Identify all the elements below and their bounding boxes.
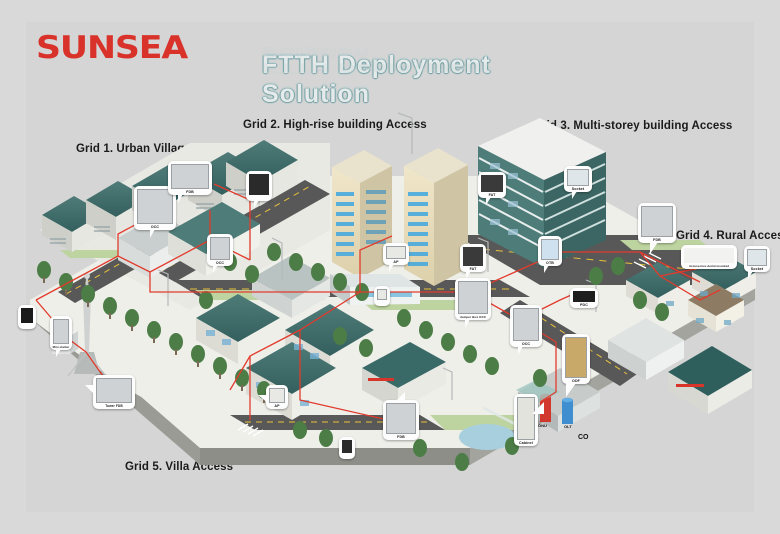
tower-fdb-icon — [96, 378, 132, 403]
callout-label: Mini shelter — [50, 345, 72, 349]
callout-cabinet[interactable]: Cabinet — [514, 394, 538, 446]
callout-label: AP — [266, 404, 288, 408]
socket-icon — [567, 169, 589, 186]
callout-label: Jumper Box OCC — [455, 315, 491, 319]
callout-occ-3[interactable]: OCC — [510, 305, 542, 347]
drop-cable-icon — [21, 308, 33, 323]
callout-socket-1[interactable]: Socket — [564, 166, 592, 192]
callout-odf[interactable]: ODF — [562, 334, 590, 384]
callout-tail — [518, 346, 523, 355]
callout-label: OCC — [134, 225, 176, 229]
odf-rack-icon — [565, 337, 587, 378]
callout-label: FAT — [478, 193, 506, 197]
mini-shelter-icon — [53, 319, 69, 344]
callout-fdb-rural[interactable]: FDB — [638, 203, 676, 243]
grid-label-urban-village: Grid 1. Urban Village Access — [76, 143, 235, 155]
callout-tower-fdb[interactable]: Tower FDB — [93, 375, 135, 409]
callout-label: FDB — [383, 435, 419, 439]
occ-cabinet-icon — [137, 189, 173, 224]
callout-label: OTB — [538, 261, 562, 265]
callout-onu-village[interactable] — [246, 171, 272, 201]
sunsea-logo: SUNSEA — [36, 30, 187, 66]
callout-tail — [572, 191, 577, 199]
callout-socket-2[interactable]: Socket — [744, 246, 770, 272]
pdc-chip-icon — [573, 291, 595, 302]
badge-olt: OLT — [564, 424, 572, 429]
callout-tail — [650, 242, 658, 254]
callout-tail — [748, 271, 753, 279]
callout-tail — [178, 194, 183, 203]
callout-fat-2[interactable]: FAT — [478, 172, 506, 198]
onu-device-icon — [377, 289, 387, 300]
callout-label: Tower FDB — [93, 404, 135, 408]
callout-jumper-box-occ[interactable]: Jumper Box OCC — [455, 278, 491, 320]
fat-closure-icon — [481, 175, 503, 192]
callout-fdb-village[interactable]: FDB — [168, 161, 212, 195]
callout-label: Socket — [564, 187, 592, 191]
callout-tail — [85, 385, 95, 395]
fat-closure-icon — [463, 247, 483, 266]
callout-otb[interactable]: OTB — [538, 236, 562, 266]
callout-tail — [389, 264, 394, 272]
otb-terminal-icon — [541, 239, 559, 260]
grid-label-multi-storey: Grid 3. Multi-storey building Access — [533, 120, 732, 132]
jumper-box-icon — [458, 281, 488, 314]
callout-tail — [56, 349, 61, 357]
callout-tail — [532, 402, 544, 414]
callout-mini-shelter[interactable]: Mini shelter — [50, 316, 72, 350]
badge-co: CO — [578, 434, 589, 441]
callout-onu-highrise[interactable] — [374, 286, 390, 306]
aerial-accessories-icon — [684, 248, 734, 263]
callout-tail — [258, 395, 268, 403]
grid-label-high-rise: Grid 2. High-rise building Access — [243, 119, 427, 131]
page-title: FTTH Deployment Solution FTTH Deployment… — [262, 51, 592, 91]
onu-device-icon — [342, 440, 352, 453]
callout-tail — [213, 265, 218, 273]
callout-bus-stop[interactable] — [18, 305, 36, 329]
callout-label: FAT — [460, 267, 486, 271]
ftth-deployment-poster: SUNSEA FTTH Deployment Solution FTTH Dep… — [0, 0, 780, 534]
callout-tail — [566, 383, 576, 397]
callout-pdc[interactable]: PDC — [570, 288, 598, 308]
fdb-box-icon — [386, 403, 416, 434]
page-title-reflection: FTTH Deployment Solution — [262, 44, 592, 76]
callout-tail — [465, 319, 470, 328]
callout-label: Accessories Aerial mounted — [681, 264, 737, 268]
callout-ap-villa[interactable]: AP — [266, 385, 288, 409]
ap-device-icon — [386, 246, 406, 259]
callout-label: PDC — [570, 303, 598, 307]
callout-tail — [150, 229, 155, 238]
fdb-box-icon — [171, 164, 209, 189]
onu-device-icon — [249, 174, 269, 195]
callout-tail — [254, 200, 259, 208]
grid-label-villa: Grid 5. Villa Access — [125, 461, 233, 473]
callout-label: OCC — [510, 342, 542, 346]
ap-device-icon — [269, 388, 285, 403]
callout-label: Cabinet — [514, 441, 538, 445]
callout-label: OCC — [207, 261, 233, 265]
callout-fat-1[interactable]: FAT — [460, 244, 486, 272]
callout-label: AP — [383, 260, 409, 264]
callout-occ-2[interactable]: OCC — [207, 234, 233, 266]
callout-tail — [395, 392, 405, 402]
occ-cabinet-icon — [513, 308, 539, 341]
occ-cabinet-icon — [210, 237, 230, 260]
badge-onu: ONU — [538, 423, 547, 428]
callout-label: FDB — [168, 190, 212, 194]
fdb-box-icon — [641, 206, 673, 237]
callout-ap-highrise[interactable]: AP — [383, 243, 409, 265]
socket-icon — [747, 249, 767, 266]
callout-accessories-aerial-mounted[interactable]: Accessories Aerial mounted — [681, 245, 737, 269]
grid-label-rural: Grid 4. Rural Access — [676, 230, 780, 242]
callout-tail — [486, 197, 491, 205]
callout-onu-villa[interactable] — [339, 437, 355, 459]
callout-fdb-villa[interactable]: FDB — [383, 400, 419, 440]
callout-tail — [544, 265, 549, 273]
